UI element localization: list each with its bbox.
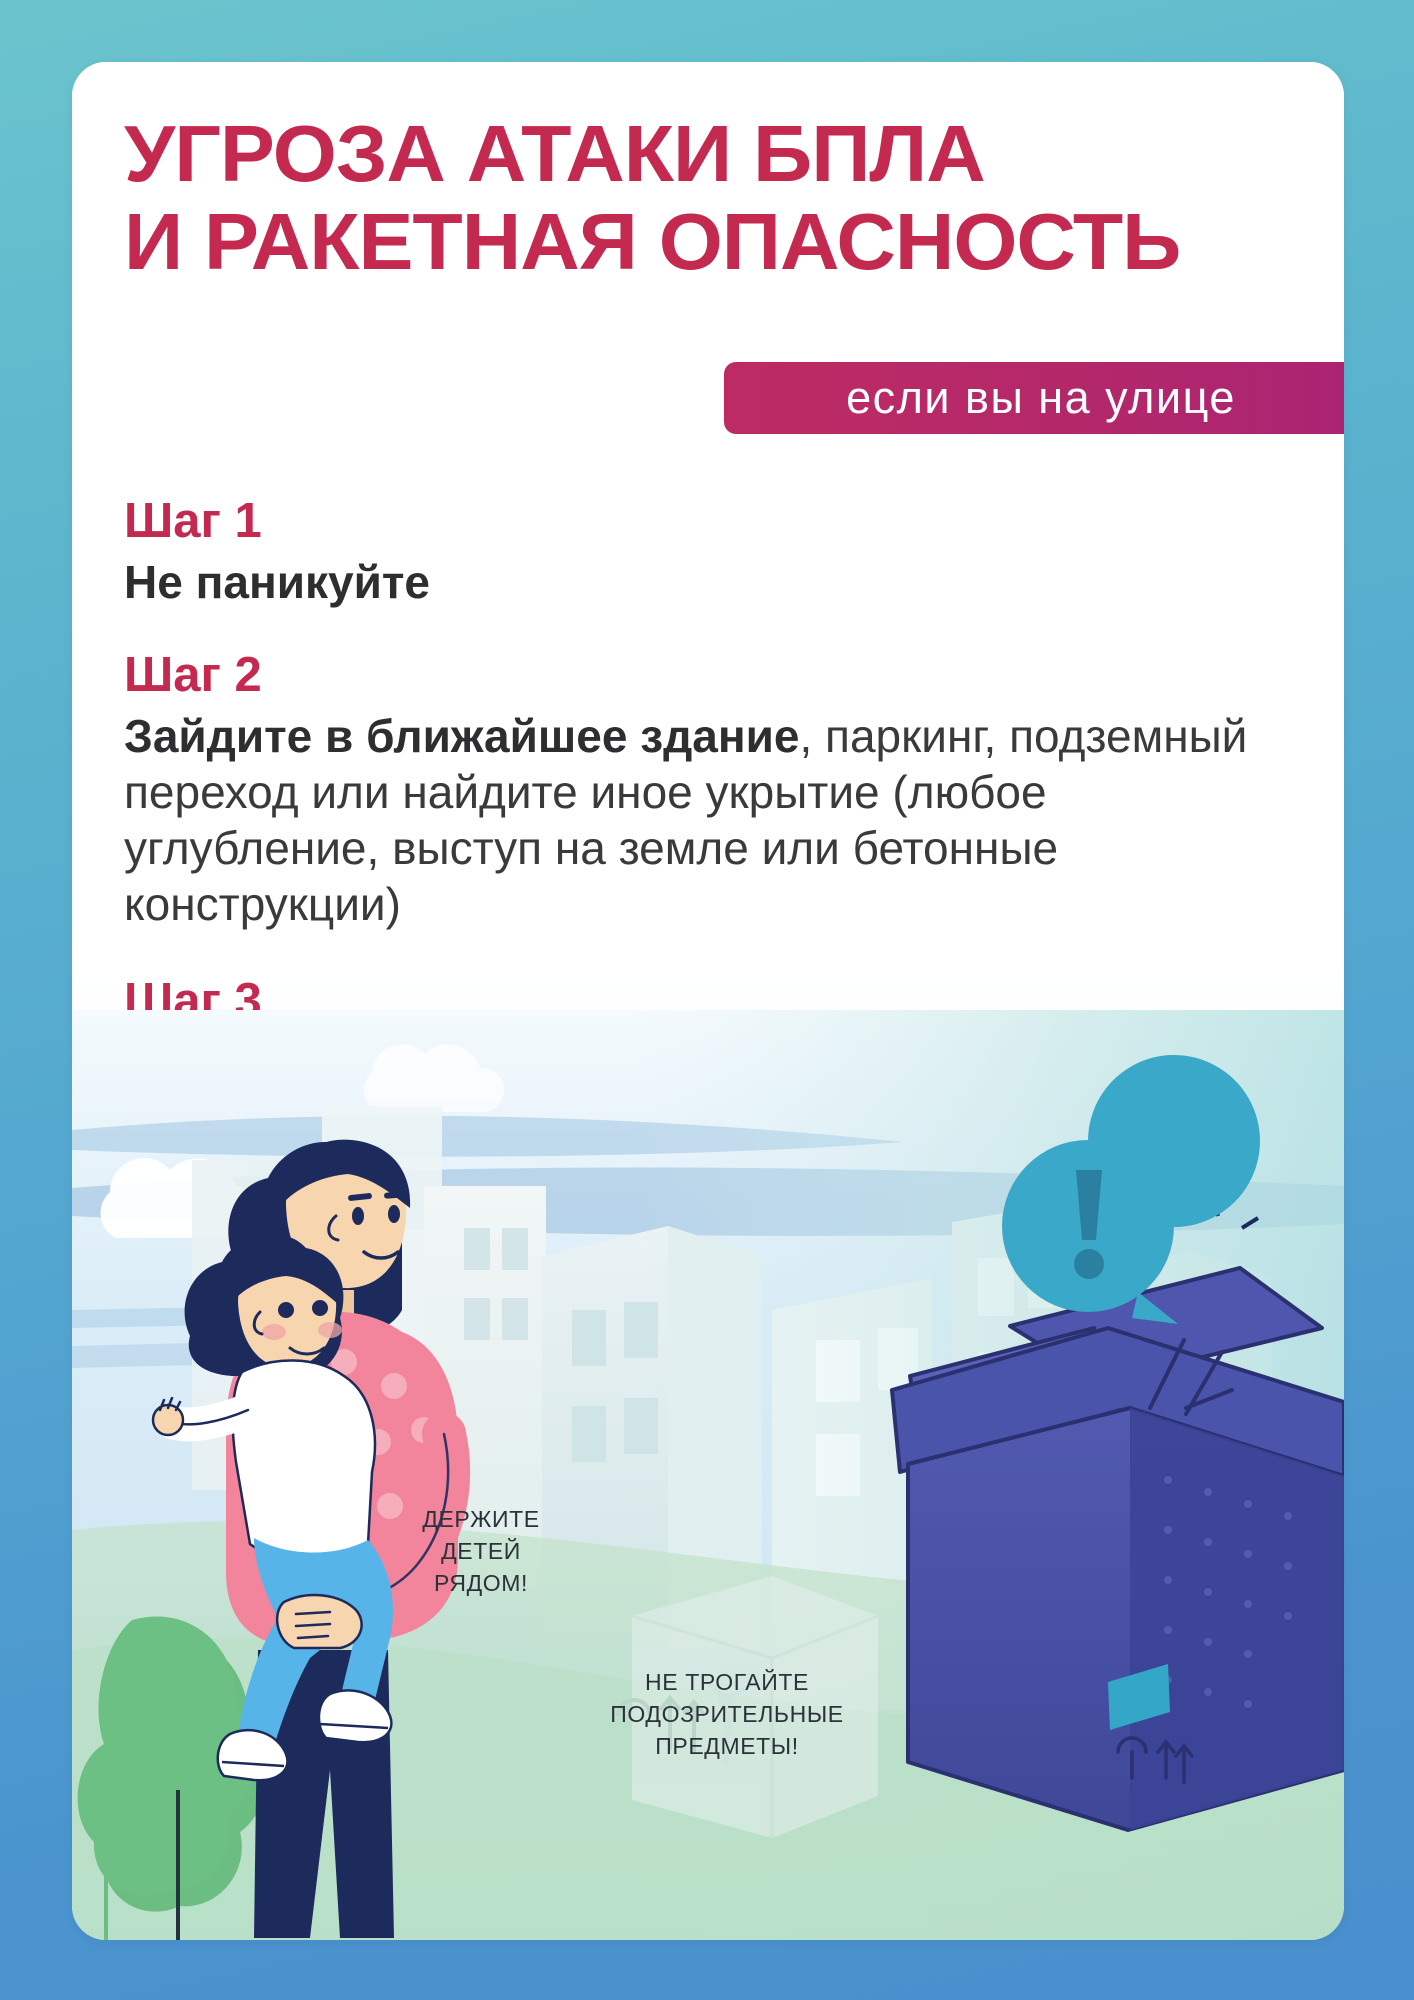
poster-card: УГРОЗА АТАКИ БПЛА И РАКЕТНАЯ ОПАСНОСТЬ е… <box>72 62 1344 1940</box>
step-1-body: Не паникуйте <box>124 554 1274 610</box>
page-title: УГРОЗА АТАКИ БПЛА И РАКЕТНАЯ ОПАСНОСТЬ <box>124 110 1304 286</box>
step-2-body: Зайдите в ближайшее здание, паркинг, под… <box>124 708 1274 932</box>
scene-svg <box>72 1010 1344 1940</box>
caption-do-not-touch-objects: НЕ ТРОГАЙТЕ ПОДОЗРИТЕЛЬНЫЕ ПРЕДМЕТЫ! <box>572 1666 882 1762</box>
poster-root: УГРОЗА АТАКИ БПЛА И РАКЕТНАЯ ОПАСНОСТЬ е… <box>0 0 1414 2000</box>
subtitle-ribbon: если вы на улице <box>724 362 1344 434</box>
subtitle-ribbon-label: если вы на улице <box>846 372 1236 424</box>
caption-keep-children-close: ДЕРЖИТЕ ДЕТЕЙ РЯДОМ! <box>388 1503 574 1599</box>
step-2-label: Шаг 2 <box>124 646 1274 704</box>
step-1: Шаг 1 Не паникуйте <box>124 492 1274 610</box>
step-1-label: Шаг 1 <box>124 492 1274 550</box>
woman-hand-icon <box>277 1595 361 1648</box>
title-line-1: УГРОЗА АТАКИ БПЛА <box>124 110 1339 198</box>
step-1-body-text: Не паникуйте <box>124 556 430 608</box>
title-line-2: И РАКЕТНАЯ ОПАСНОСТЬ <box>124 198 1339 286</box>
step-2-body-bold: Зайдите в ближайшее здание <box>124 710 800 762</box>
step-2: Шаг 2 Зайдите в ближайшее здание, паркин… <box>124 646 1274 932</box>
city-street-illustration <box>72 1010 1344 1940</box>
